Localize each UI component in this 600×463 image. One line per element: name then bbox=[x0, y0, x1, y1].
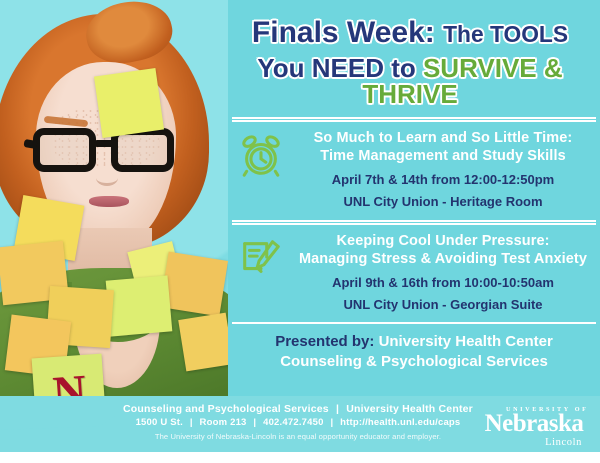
session-heading-line1: So Much to Learn and So Little Time: bbox=[292, 129, 594, 148]
bottom-white-strip bbox=[0, 452, 600, 463]
session-heading-line1: Keeping Cool Under Pressure: bbox=[292, 232, 594, 251]
footer-separator: | bbox=[186, 417, 197, 428]
session-heading-line2: Managing Stress & Avoiding Test Anxiety bbox=[292, 250, 594, 269]
session-location: UNL City Union - Georgian Suite bbox=[292, 296, 594, 314]
session-text: Keeping Cool Under Pressure: Managing St… bbox=[292, 232, 594, 314]
footer-line-1: Counseling and Psychological Services | … bbox=[118, 402, 478, 416]
mouth bbox=[89, 196, 129, 207]
student-photo: N bbox=[0, 0, 228, 463]
nose bbox=[96, 170, 118, 186]
title-finals-week: Finals Week: bbox=[252, 16, 435, 49]
footer-separator: | bbox=[332, 403, 343, 415]
footer-caps-name: Counseling and Psychological Services bbox=[123, 403, 329, 415]
lens-left bbox=[33, 128, 96, 172]
divider-top bbox=[232, 117, 596, 122]
title-line-1: Finals Week: The TOOLS bbox=[228, 18, 592, 49]
footer-text-block: Counseling and Psychological Services | … bbox=[118, 402, 478, 441]
footer-room: Room 213 bbox=[200, 417, 247, 428]
presented-by-org-line2: Counseling & Psychological Services bbox=[234, 352, 594, 372]
footer-phone: 402.472.7450 bbox=[263, 417, 324, 428]
session-location: UNL City Union - Heritage Room bbox=[292, 193, 594, 211]
presented-by-block: Presented by: University Health Center C… bbox=[228, 332, 600, 373]
poster-title: Finals Week: The TOOLS You NEED to SURVI… bbox=[228, 0, 600, 108]
notepad-pencil-icon bbox=[230, 232, 292, 282]
nebraska-lincoln-logo: UNIVERSITY OF Nebraska Lincoln bbox=[478, 404, 590, 454]
sticky-note bbox=[178, 313, 228, 372]
session-heading-line2: Time Management and Study Skills bbox=[292, 147, 594, 166]
title-line-2: You NEED to SURVIVE & THRIVE bbox=[228, 55, 592, 108]
presented-by-label: Presented by: bbox=[275, 333, 374, 350]
logo-nebraska-wordmark: Nebraska bbox=[478, 411, 590, 436]
footer-separator: | bbox=[326, 417, 337, 428]
divider-middle bbox=[232, 220, 596, 225]
logo-lincoln: Lincoln bbox=[545, 437, 582, 448]
session-text: So Much to Learn and So Little Time: Tim… bbox=[292, 129, 594, 211]
footer-address: 1500 U St. bbox=[136, 417, 183, 428]
poster-content: Finals Week: The TOOLS You NEED to SURVI… bbox=[228, 0, 600, 396]
presented-by-org-line1: University Health Center bbox=[379, 333, 553, 350]
sticky-note bbox=[106, 275, 173, 336]
session-block-stress-management: Keeping Cool Under Pressure: Managing St… bbox=[228, 232, 600, 314]
footer-url[interactable]: http://health.unl.edu/caps bbox=[340, 417, 460, 428]
title-the-tools: The TOOLS bbox=[443, 21, 568, 47]
session-dates: April 7th & 14th from 12:00-12:50pm bbox=[292, 171, 594, 189]
glasses-bridge bbox=[94, 140, 114, 147]
poster-canvas: N Finals Week: The TOOLS You NEED to SUR… bbox=[0, 0, 600, 463]
footer-separator: | bbox=[249, 417, 260, 428]
footer-uhc-name: University Health Center bbox=[346, 403, 473, 415]
session-block-time-management: So Much to Learn and So Little Time: Tim… bbox=[228, 129, 600, 211]
sticky-note bbox=[94, 68, 164, 138]
divider-bottom bbox=[232, 322, 596, 324]
session-dates: April 9th & 16th from 10:00-10:50am bbox=[292, 274, 594, 292]
alarm-clock-icon bbox=[230, 129, 292, 179]
footer-line-2: 1500 U St. | Room 213 | 402.472.7450 | h… bbox=[118, 416, 478, 430]
title-you-need-to: You NEED to bbox=[257, 53, 415, 83]
footer-disclaimer: The University of Nebraska-Lincoln is an… bbox=[118, 432, 478, 441]
presented-by-line: Presented by: University Health Center bbox=[234, 332, 594, 352]
